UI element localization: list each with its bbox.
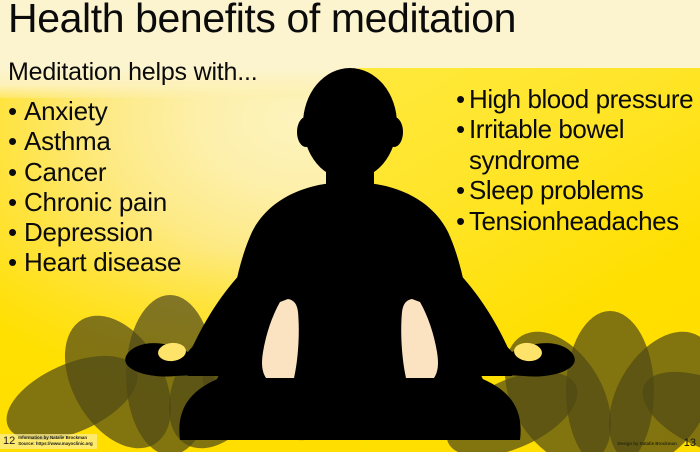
list-item: • Chronic pain [8, 187, 308, 217]
list-item: • Tensionheadaches [456, 206, 700, 236]
list-item-label: High blood pressure [469, 84, 700, 114]
bullet-icon: • [8, 217, 24, 247]
bullet-icon: • [456, 114, 469, 144]
benefits-list-left: • Anxiety • Asthma • Cancer • Chronic pa… [8, 96, 308, 278]
bullet-icon: • [456, 206, 469, 236]
credit-text: Information by Natalie Brockman Source: … [18, 435, 93, 448]
list-item-label: Chronic pain [24, 187, 308, 217]
page-title: Health benefits of meditation [8, 0, 516, 42]
list-item: • Sleep problems [456, 175, 700, 205]
list-item-label: Irritable bowel syndrome [469, 114, 700, 175]
list-item: • High blood pressure [456, 84, 700, 114]
list-item-label: Heart disease [24, 247, 308, 277]
list-item-label: Asthma [24, 126, 308, 156]
footer-credit-right: Design by Natalie Brockman 13 [617, 437, 696, 449]
credit-line-1: Information by Natalie Brockman [18, 435, 87, 440]
list-item-label: Depression [24, 217, 308, 247]
design-credit-text: Design by Natalie Brockman [617, 441, 676, 446]
slide-canvas: Health benefits of meditation Meditation… [0, 0, 700, 452]
footer-credit-left: 12 Information by Natalie Brockman Sourc… [0, 434, 97, 449]
list-item: • Cancer [8, 157, 308, 187]
bullet-icon: • [8, 96, 24, 126]
bullet-icon: • [456, 84, 469, 114]
list-item: • Asthma [8, 126, 308, 156]
benefits-list-right: • High blood pressure • Irritable bowel … [456, 84, 700, 236]
bullet-icon: • [8, 157, 24, 187]
bullet-icon: • [8, 247, 24, 277]
list-item: • Depression [8, 217, 308, 247]
bullet-icon: • [456, 175, 469, 205]
bullet-icon: • [8, 126, 24, 156]
page-number-right: 13 [684, 437, 696, 449]
list-item-label: Sleep problems [469, 175, 700, 205]
page-number-left: 12 [1, 435, 18, 447]
list-item-label: Tensionheadaches [469, 206, 700, 236]
list-item: • Anxiety [8, 96, 308, 126]
credit-line-2: Source: https://www.mayoclinic.org [18, 441, 93, 446]
list-item: • Irritable bowel syndrome [456, 114, 700, 175]
list-item-label: Cancer [24, 157, 308, 187]
bullet-icon: • [8, 187, 24, 217]
page-subtitle: Meditation helps with... [8, 58, 258, 87]
list-item-label: Anxiety [24, 96, 308, 126]
list-item: • Heart disease [8, 247, 308, 277]
